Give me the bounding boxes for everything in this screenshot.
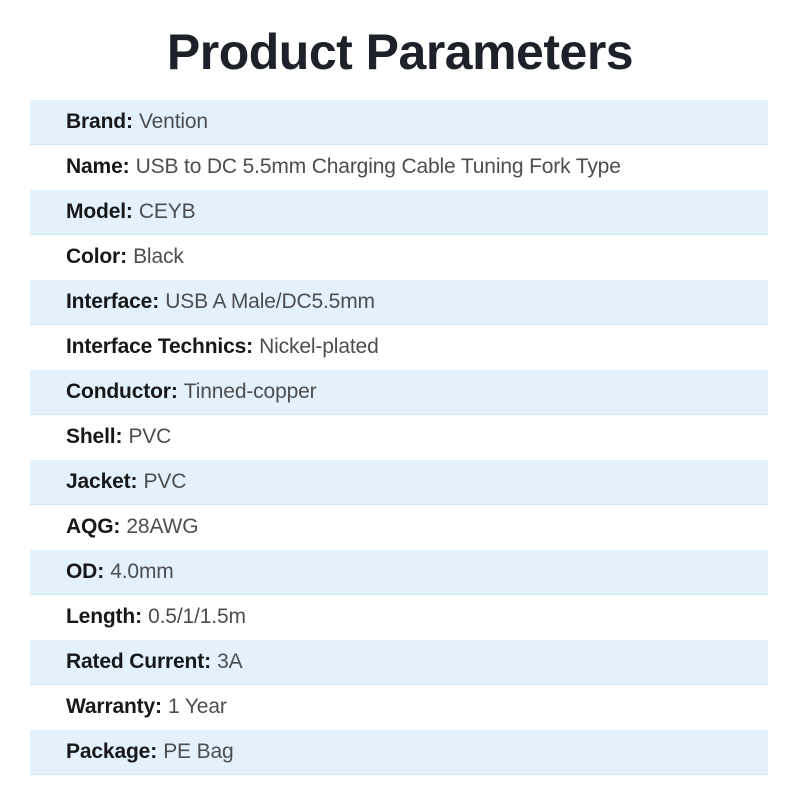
- spec-row: AQG:28AWG: [30, 505, 768, 550]
- spec-row: Length:0.5/1/1.5m: [30, 595, 768, 640]
- spec-label: Rated Current: [66, 650, 204, 674]
- spec-row: Conductor:Tinned-copper: [30, 370, 768, 415]
- spec-row: Package:PE Bag: [30, 730, 768, 775]
- spec-separator: :: [135, 605, 142, 629]
- spec-label: Jacket: [66, 470, 131, 494]
- spec-value: 28AWG: [126, 515, 198, 539]
- spec-value: 0.5/1/1.5m: [148, 605, 246, 629]
- product-parameters-page: Product Parameters Brand:VentionName:USB…: [0, 0, 800, 800]
- spec-value: Vention: [139, 110, 208, 134]
- spec-label: Length: [66, 605, 135, 629]
- spec-value: 3A: [217, 650, 242, 674]
- spec-separator: :: [155, 695, 162, 719]
- spec-value: PE Bag: [163, 740, 233, 764]
- spec-value: 4.0mm: [110, 560, 173, 584]
- spec-separator: :: [113, 515, 120, 539]
- spec-separator: :: [131, 470, 138, 494]
- spec-separator: :: [150, 740, 157, 764]
- spec-row: Brand:Vention: [30, 100, 768, 145]
- spec-row: Jacket:PVC: [30, 460, 768, 505]
- spec-value: 1 Year: [168, 695, 227, 719]
- spec-value: Black: [133, 245, 184, 269]
- spec-separator: :: [123, 155, 130, 179]
- spec-row: Warranty:1 Year: [30, 685, 768, 730]
- spec-value: USB A Male/DC5.5mm: [165, 290, 375, 314]
- spec-value: CEYB: [139, 200, 196, 224]
- spec-value: PVC: [128, 425, 171, 449]
- spec-separator: :: [246, 335, 253, 359]
- spec-row: Shell:PVC: [30, 415, 768, 460]
- spec-separator: :: [152, 290, 159, 314]
- spec-label: Color: [66, 245, 120, 269]
- spec-value: PVC: [144, 470, 187, 494]
- spec-separator: :: [126, 200, 133, 224]
- spec-value: USB to DC 5.5mm Charging Cable Tuning Fo…: [136, 155, 621, 179]
- spec-label: Shell: [66, 425, 115, 449]
- spec-value: Tinned-copper: [184, 380, 317, 404]
- spec-separator: :: [171, 380, 178, 404]
- spec-row: OD:4.0mm: [30, 550, 768, 595]
- spec-row: Color:Black: [30, 235, 768, 280]
- spec-label: Model: [66, 200, 126, 224]
- spec-label: Brand: [66, 110, 126, 134]
- spec-table: Brand:VentionName:USB to DC 5.5mm Chargi…: [30, 100, 768, 775]
- spec-label: Interface: [66, 290, 152, 314]
- spec-separator: :: [126, 110, 133, 134]
- spec-row: Interface:USB A Male/DC5.5mm: [30, 280, 768, 325]
- spec-label: Conductor: [66, 380, 171, 404]
- spec-separator: :: [97, 560, 104, 584]
- spec-label: Name: [66, 155, 123, 179]
- spec-label: Warranty: [66, 695, 155, 719]
- spec-separator: :: [115, 425, 122, 449]
- spec-label: Package: [66, 740, 150, 764]
- spec-value: Nickel-plated: [259, 335, 378, 359]
- spec-row: Model:CEYB: [30, 190, 768, 235]
- page-title: Product Parameters: [0, 22, 800, 82]
- spec-label: AQG: [66, 515, 113, 539]
- spec-label: Interface Technics: [66, 335, 246, 359]
- spec-label: OD: [66, 560, 97, 584]
- spec-separator: :: [120, 245, 127, 269]
- spec-row: Name:USB to DC 5.5mm Charging Cable Tuni…: [30, 145, 768, 190]
- spec-row: Rated Current:3A: [30, 640, 768, 685]
- spec-separator: :: [204, 650, 211, 674]
- spec-row: Interface Technics:Nickel-plated: [30, 325, 768, 370]
